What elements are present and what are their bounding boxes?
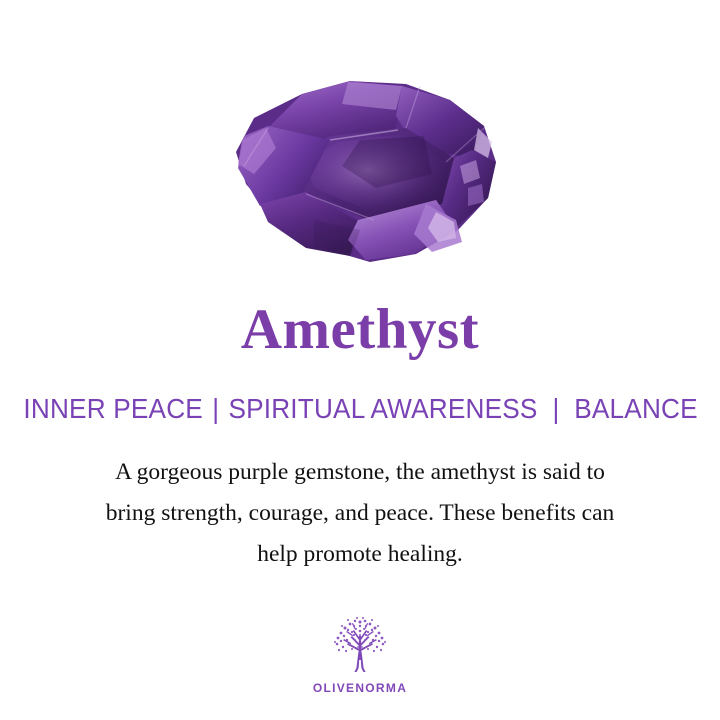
- amethyst-crystal-photo: [210, 70, 510, 275]
- keyword-spiritual-awareness: SPIRITUAL AWARENESS: [228, 393, 537, 424]
- keyword-separator-1: |: [203, 393, 229, 425]
- description-line-3: help promote healing.: [50, 534, 670, 575]
- keyword-list: INNER PEACE|SPIRITUAL AWARENESS|BALANCE: [23, 393, 696, 425]
- keyword-balance: BALANCE: [574, 393, 698, 424]
- tree-of-life-icon: [330, 616, 390, 678]
- description-line-2: bring strength, courage, and peace. Thes…: [50, 493, 670, 534]
- brand-wordmark: OLIVENORMA: [0, 681, 720, 695]
- brand-logo: OLIVENORMA: [0, 616, 720, 695]
- hero-image-area: [0, 0, 720, 285]
- description-line-1: A gorgeous purple gemstone, the amethyst…: [50, 452, 670, 493]
- page-title: Amethyst: [0, 300, 720, 360]
- keyword-inner-peace: INNER PEACE: [23, 393, 203, 424]
- keyword-separator-2: |: [538, 393, 575, 425]
- description-text: A gorgeous purple gemstone, the amethyst…: [50, 452, 670, 575]
- amethyst-info-card: Amethyst INNER PEACE|SPIRITUAL AWARENESS…: [0, 0, 720, 720]
